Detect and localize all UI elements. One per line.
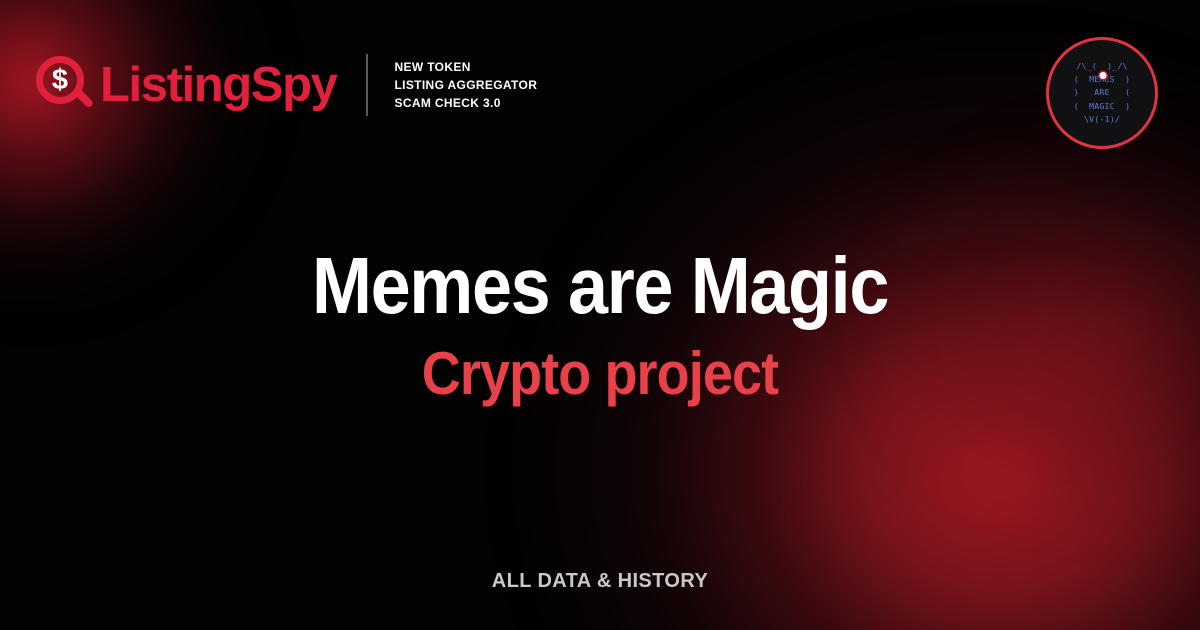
page-subtitle: Crypto project <box>60 344 1140 404</box>
brand-lockup[interactable]: $ ListingSpy <box>36 56 336 114</box>
project-avatar-badge[interactable]: /\_( )_/\ ( MEMES ) ) ARE ( ( MAGIC ) \V… <box>1046 37 1158 149</box>
magnifier-dollar-icon: $ <box>36 56 94 114</box>
brand-tagline: NEW TOKEN LISTING AGGREGATOR SCAM CHECK … <box>394 58 537 112</box>
brand-wordmark: ListingSpy <box>100 61 336 110</box>
header-divider <box>366 54 368 116</box>
ascii-art-logo: /\_( )_/\ ( MEMES ) ) ARE ( ( MAGIC ) \V… <box>1074 60 1130 126</box>
hero-section: Memes are Magic Crypto project <box>0 246 1200 404</box>
brand-header: $ ListingSpy NEW TOKEN LISTING AGGREGATO… <box>36 54 537 116</box>
dollar-icon: $ <box>36 56 84 104</box>
promo-banner: $ ListingSpy NEW TOKEN LISTING AGGREGATO… <box>0 0 1200 630</box>
tagline-line-3: SCAM CHECK 3.0 <box>394 94 537 112</box>
footer-caption: ALL DATA & HISTORY <box>0 570 1200 593</box>
page-title: Memes are Magic <box>60 246 1140 326</box>
tagline-line-1: NEW TOKEN <box>394 58 537 76</box>
ascii-eye-icon <box>1100 72 1107 79</box>
tagline-line-2: LISTING AGGREGATOR <box>394 76 537 94</box>
